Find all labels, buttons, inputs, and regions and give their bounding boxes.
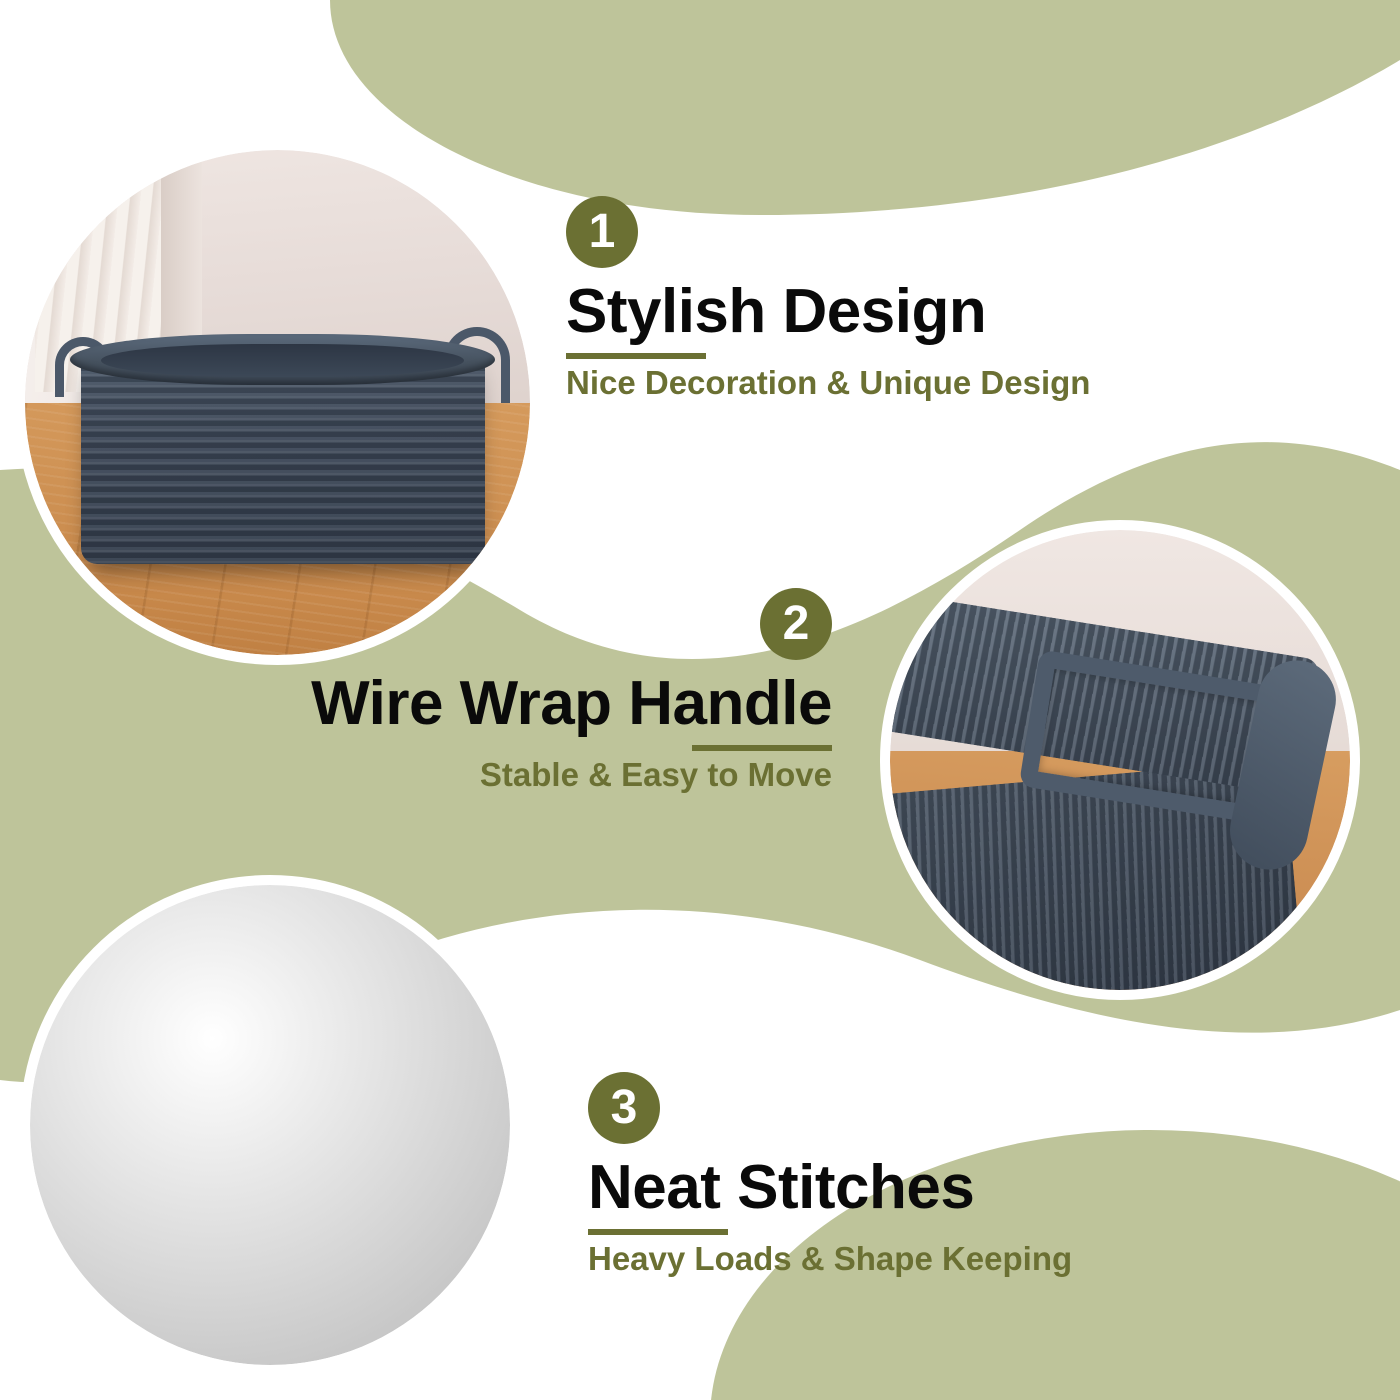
infographic-canvas: 1 Stylish Design Nice Decoration & Uniqu…: [0, 0, 1400, 1400]
scene-handle-detail: [890, 530, 1350, 990]
feature-underline-2: [692, 745, 832, 751]
photo-basket-inner: [25, 150, 530, 655]
photo-texture-inner: [30, 885, 510, 1365]
feature-subtitle-1: Nice Decoration & Unique Design: [566, 365, 1090, 402]
photo-handle-inner: [890, 530, 1350, 990]
scene-living-room: [25, 150, 530, 655]
feature-number-badge-3: 3: [588, 1072, 660, 1144]
feature-block-1: 1 Stylish Design Nice Decoration & Uniqu…: [566, 196, 1090, 402]
feature-title-1: Stylish Design: [566, 280, 1090, 344]
rope-basket-opening: [101, 344, 465, 377]
feature-block-2: 2 Wire Wrap Handle Stable & Easy to Move: [196, 588, 832, 794]
feature-number-badge-2: 2: [760, 588, 832, 660]
feature-underline-1: [566, 353, 706, 359]
feature-underline-3: [588, 1229, 728, 1235]
feature-title-3: Neat Stitches: [588, 1156, 1072, 1220]
rope-weave-texture: [30, 885, 510, 1365]
feature-title-2: Wire Wrap Handle: [196, 672, 832, 736]
feature-subtitle-2: Stable & Easy to Move: [196, 757, 832, 794]
feature-number-badge-1: 1: [566, 196, 638, 268]
feature-block-3: 3 Neat Stitches Heavy Loads & Shape Keep…: [588, 1072, 1072, 1278]
feature-subtitle-3: Heavy Loads & Shape Keeping: [588, 1241, 1072, 1278]
product-photo-basket-on-floor: [15, 140, 540, 665]
product-photo-handle-closeup: [880, 520, 1360, 1000]
product-photo-weave-texture: [20, 875, 520, 1375]
